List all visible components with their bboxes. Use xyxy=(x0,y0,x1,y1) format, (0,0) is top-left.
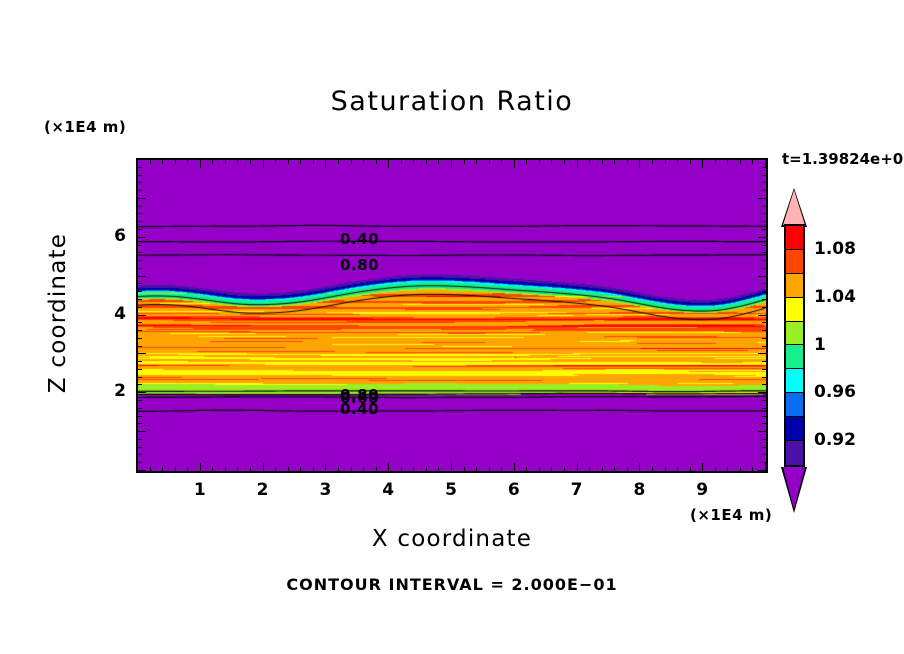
x-tick xyxy=(740,467,741,472)
y-tick xyxy=(137,346,142,347)
y-tick xyxy=(762,439,767,440)
y-tick xyxy=(137,361,142,362)
x-tick xyxy=(464,159,465,164)
x-tick xyxy=(514,463,515,472)
y-tick xyxy=(137,392,146,393)
y-tick xyxy=(137,408,142,409)
y-tick xyxy=(137,182,142,183)
y-tick xyxy=(762,447,767,448)
x-tick xyxy=(162,467,163,472)
x-tick xyxy=(702,463,703,472)
x-tick xyxy=(526,159,527,164)
y-tick xyxy=(137,439,142,440)
y-tick xyxy=(137,206,142,207)
y-tick xyxy=(137,283,142,284)
x-tick xyxy=(627,159,628,164)
x-tick xyxy=(237,467,238,472)
y-tick xyxy=(137,291,142,292)
x-tick xyxy=(577,159,578,168)
x-tick xyxy=(300,159,301,164)
y-tick xyxy=(762,291,767,292)
x-tick xyxy=(690,467,691,472)
x-tick xyxy=(250,159,251,164)
y-tick xyxy=(137,268,142,269)
y-tick xyxy=(137,423,142,424)
y-tick xyxy=(762,175,767,176)
y-tick xyxy=(137,175,142,176)
y-tick xyxy=(762,283,767,284)
x-tick xyxy=(162,159,163,164)
x-tick xyxy=(388,159,389,168)
y-tick xyxy=(758,392,767,393)
x-tick xyxy=(539,467,540,472)
x-tick-label: 7 xyxy=(562,480,592,500)
y-tick xyxy=(762,400,767,401)
colorbar-bottom-cap xyxy=(783,467,805,509)
colorbar-band-yellow xyxy=(786,298,803,322)
x-tick xyxy=(263,463,264,472)
x-tick xyxy=(715,159,716,164)
y-tick xyxy=(137,315,146,316)
y-tick xyxy=(137,431,146,432)
x-tick xyxy=(275,159,276,164)
x-tick xyxy=(639,463,640,472)
x-tick xyxy=(313,159,314,164)
y-axis-title: Z coordinate xyxy=(45,213,71,413)
x-tick xyxy=(752,467,753,472)
y-tick-label: 2 xyxy=(104,381,126,401)
y-tick xyxy=(137,322,142,323)
x-tick xyxy=(376,159,377,164)
x-tick xyxy=(665,159,666,164)
saturation-field-canvas xyxy=(138,160,766,471)
y-tick xyxy=(758,198,767,199)
y-tick xyxy=(137,237,146,238)
colorbar-label: 0.96 xyxy=(814,382,856,402)
x-tick xyxy=(577,463,578,472)
y-tick xyxy=(762,361,767,362)
x-tick xyxy=(639,159,640,168)
y-tick xyxy=(137,447,142,448)
y-tick xyxy=(137,384,142,385)
x-tick xyxy=(175,159,176,164)
contour-interval-caption: CONTOUR INTERVAL = 2.000E−01 xyxy=(0,575,904,594)
y-tick xyxy=(762,213,767,214)
x-axis-title: X coordinate xyxy=(0,526,904,552)
colorbar-band-yellow-green xyxy=(786,322,803,346)
y-tick xyxy=(758,353,767,354)
y-tick xyxy=(137,400,142,401)
y-tick xyxy=(762,252,767,253)
y-tick xyxy=(137,330,142,331)
colorbar-band-blue xyxy=(786,393,803,417)
x-tick xyxy=(338,159,339,164)
x-tick xyxy=(150,467,151,472)
x-tick xyxy=(665,467,666,472)
colorbar-top-cap xyxy=(783,190,805,225)
y-tick xyxy=(137,213,142,214)
x-tick-label: 2 xyxy=(248,480,278,500)
x-tick xyxy=(388,463,389,472)
y-tick xyxy=(137,198,146,199)
x-tick xyxy=(212,467,213,472)
colorbar-band-indigo xyxy=(786,441,803,465)
x-tick-label: 8 xyxy=(624,480,654,500)
contour-label: 0.80 xyxy=(340,256,379,274)
time-stamp-label: t=1.39824e+07 xyxy=(782,150,904,168)
x-tick xyxy=(677,159,678,164)
x-tick xyxy=(338,467,339,472)
y-tick xyxy=(137,416,142,417)
y-tick xyxy=(762,346,767,347)
y-tick xyxy=(758,159,767,160)
x-tick xyxy=(564,159,565,164)
x-tick xyxy=(413,159,414,164)
x-tick xyxy=(288,467,289,472)
x-tick xyxy=(727,159,728,164)
x-tick xyxy=(438,467,439,472)
x-tick xyxy=(602,467,603,472)
y-tick xyxy=(762,167,767,168)
y-axis-unit-label: (×1E4 m) xyxy=(44,118,126,136)
y-tick xyxy=(762,190,767,191)
y-tick xyxy=(758,470,767,471)
y-tick xyxy=(762,423,767,424)
colorbar-label: 1 xyxy=(814,335,826,355)
y-tick xyxy=(762,268,767,269)
x-tick xyxy=(325,159,326,168)
x-tick xyxy=(690,159,691,164)
x-tick xyxy=(740,159,741,164)
x-tick xyxy=(187,467,188,472)
x-tick xyxy=(501,467,502,472)
y-tick xyxy=(137,454,142,455)
x-tick xyxy=(589,467,590,472)
x-tick-label: 3 xyxy=(310,480,340,500)
y-tick xyxy=(137,260,142,261)
x-tick xyxy=(376,467,377,472)
contour-plot-area xyxy=(136,158,768,473)
y-tick xyxy=(762,384,767,385)
colorbar-band-red xyxy=(786,226,803,250)
y-tick xyxy=(762,245,767,246)
x-tick xyxy=(200,463,201,472)
y-tick xyxy=(137,338,142,339)
y-tick xyxy=(762,182,767,183)
x-tick xyxy=(627,467,628,472)
x-tick xyxy=(727,467,728,472)
x-tick xyxy=(426,159,427,164)
y-tick xyxy=(758,276,767,277)
contour-label: 0.40 xyxy=(340,400,379,418)
x-tick xyxy=(351,159,352,164)
colorbar-band-cyan xyxy=(786,369,803,393)
x-tick xyxy=(413,467,414,472)
page-title: Saturation Ratio xyxy=(0,86,904,117)
colorbar-label: 1.08 xyxy=(814,239,856,259)
colorbar-label: 0.92 xyxy=(814,430,856,450)
y-tick xyxy=(762,229,767,230)
x-tick xyxy=(514,159,515,168)
x-tick xyxy=(401,467,402,472)
y-tick xyxy=(762,416,767,417)
y-tick xyxy=(137,470,146,471)
y-tick xyxy=(137,299,142,300)
x-tick xyxy=(313,467,314,472)
x-tick xyxy=(614,467,615,472)
x-tick xyxy=(363,467,364,472)
x-tick xyxy=(250,467,251,472)
x-tick xyxy=(288,159,289,164)
x-tick xyxy=(438,159,439,164)
x-tick xyxy=(351,467,352,472)
y-tick xyxy=(762,408,767,409)
y-tick xyxy=(762,338,767,339)
y-tick xyxy=(137,462,142,463)
y-tick xyxy=(762,322,767,323)
x-tick-label: 5 xyxy=(436,480,466,500)
x-tick xyxy=(652,159,653,164)
contour-label: 0.40 xyxy=(340,230,379,248)
x-tick xyxy=(426,467,427,472)
y-tick xyxy=(762,369,767,370)
x-tick-label: 6 xyxy=(499,480,529,500)
y-tick xyxy=(762,221,767,222)
colorbar-band-spring-green xyxy=(786,345,803,369)
y-tick xyxy=(762,330,767,331)
x-tick xyxy=(489,467,490,472)
x-tick xyxy=(300,467,301,472)
y-tick-label: 6 xyxy=(104,226,126,246)
colorbar xyxy=(784,224,805,467)
x-tick xyxy=(476,467,477,472)
x-tick xyxy=(363,159,364,164)
y-tick xyxy=(137,167,142,168)
x-tick xyxy=(200,159,201,168)
x-tick xyxy=(589,159,590,164)
colorbar-label: 1.04 xyxy=(814,287,856,307)
y-tick xyxy=(762,260,767,261)
y-tick xyxy=(137,221,142,222)
x-tick xyxy=(464,467,465,472)
x-tick xyxy=(715,467,716,472)
y-tick xyxy=(758,315,767,316)
y-tick xyxy=(762,307,767,308)
y-tick xyxy=(762,462,767,463)
x-tick-label: 1 xyxy=(185,480,215,500)
y-tick xyxy=(137,252,142,253)
y-tick xyxy=(137,245,142,246)
y-tick xyxy=(762,206,767,207)
y-tick xyxy=(758,431,767,432)
x-tick xyxy=(451,463,452,472)
x-tick xyxy=(551,467,552,472)
x-tick xyxy=(501,159,502,164)
x-tick xyxy=(263,159,264,168)
y-tick xyxy=(762,454,767,455)
x-tick xyxy=(702,159,703,168)
y-tick xyxy=(137,276,146,277)
x-tick xyxy=(752,159,753,164)
x-tick xyxy=(677,467,678,472)
x-tick xyxy=(237,159,238,164)
y-tick xyxy=(137,377,142,378)
x-axis-unit-label: (×1E4 m) xyxy=(690,506,772,524)
x-tick xyxy=(175,467,176,472)
x-tick-label: 4 xyxy=(373,480,403,500)
x-tick xyxy=(451,159,452,168)
x-tick xyxy=(275,467,276,472)
y-tick xyxy=(758,237,767,238)
y-tick xyxy=(762,377,767,378)
y-tick xyxy=(137,353,146,354)
x-tick xyxy=(212,159,213,164)
x-tick xyxy=(187,159,188,164)
colorbar-band-navy xyxy=(786,417,803,441)
x-tick xyxy=(325,463,326,472)
x-tick xyxy=(150,159,151,164)
x-tick xyxy=(539,159,540,164)
y-tick xyxy=(137,159,146,160)
x-tick xyxy=(225,159,226,164)
x-tick xyxy=(225,467,226,472)
x-tick xyxy=(551,159,552,164)
x-tick-label: 9 xyxy=(687,480,717,500)
x-tick xyxy=(564,467,565,472)
y-tick xyxy=(137,229,142,230)
y-tick-label: 4 xyxy=(104,304,126,324)
x-tick xyxy=(489,159,490,164)
colorbar-band-orange-red xyxy=(786,250,803,274)
x-tick xyxy=(526,467,527,472)
x-tick xyxy=(614,159,615,164)
y-tick xyxy=(137,190,142,191)
y-tick xyxy=(137,307,142,308)
y-tick xyxy=(137,369,142,370)
x-tick xyxy=(476,159,477,164)
x-tick xyxy=(602,159,603,164)
y-tick xyxy=(762,299,767,300)
colorbar-band-orange xyxy=(786,274,803,298)
x-tick xyxy=(401,159,402,164)
x-tick xyxy=(652,467,653,472)
